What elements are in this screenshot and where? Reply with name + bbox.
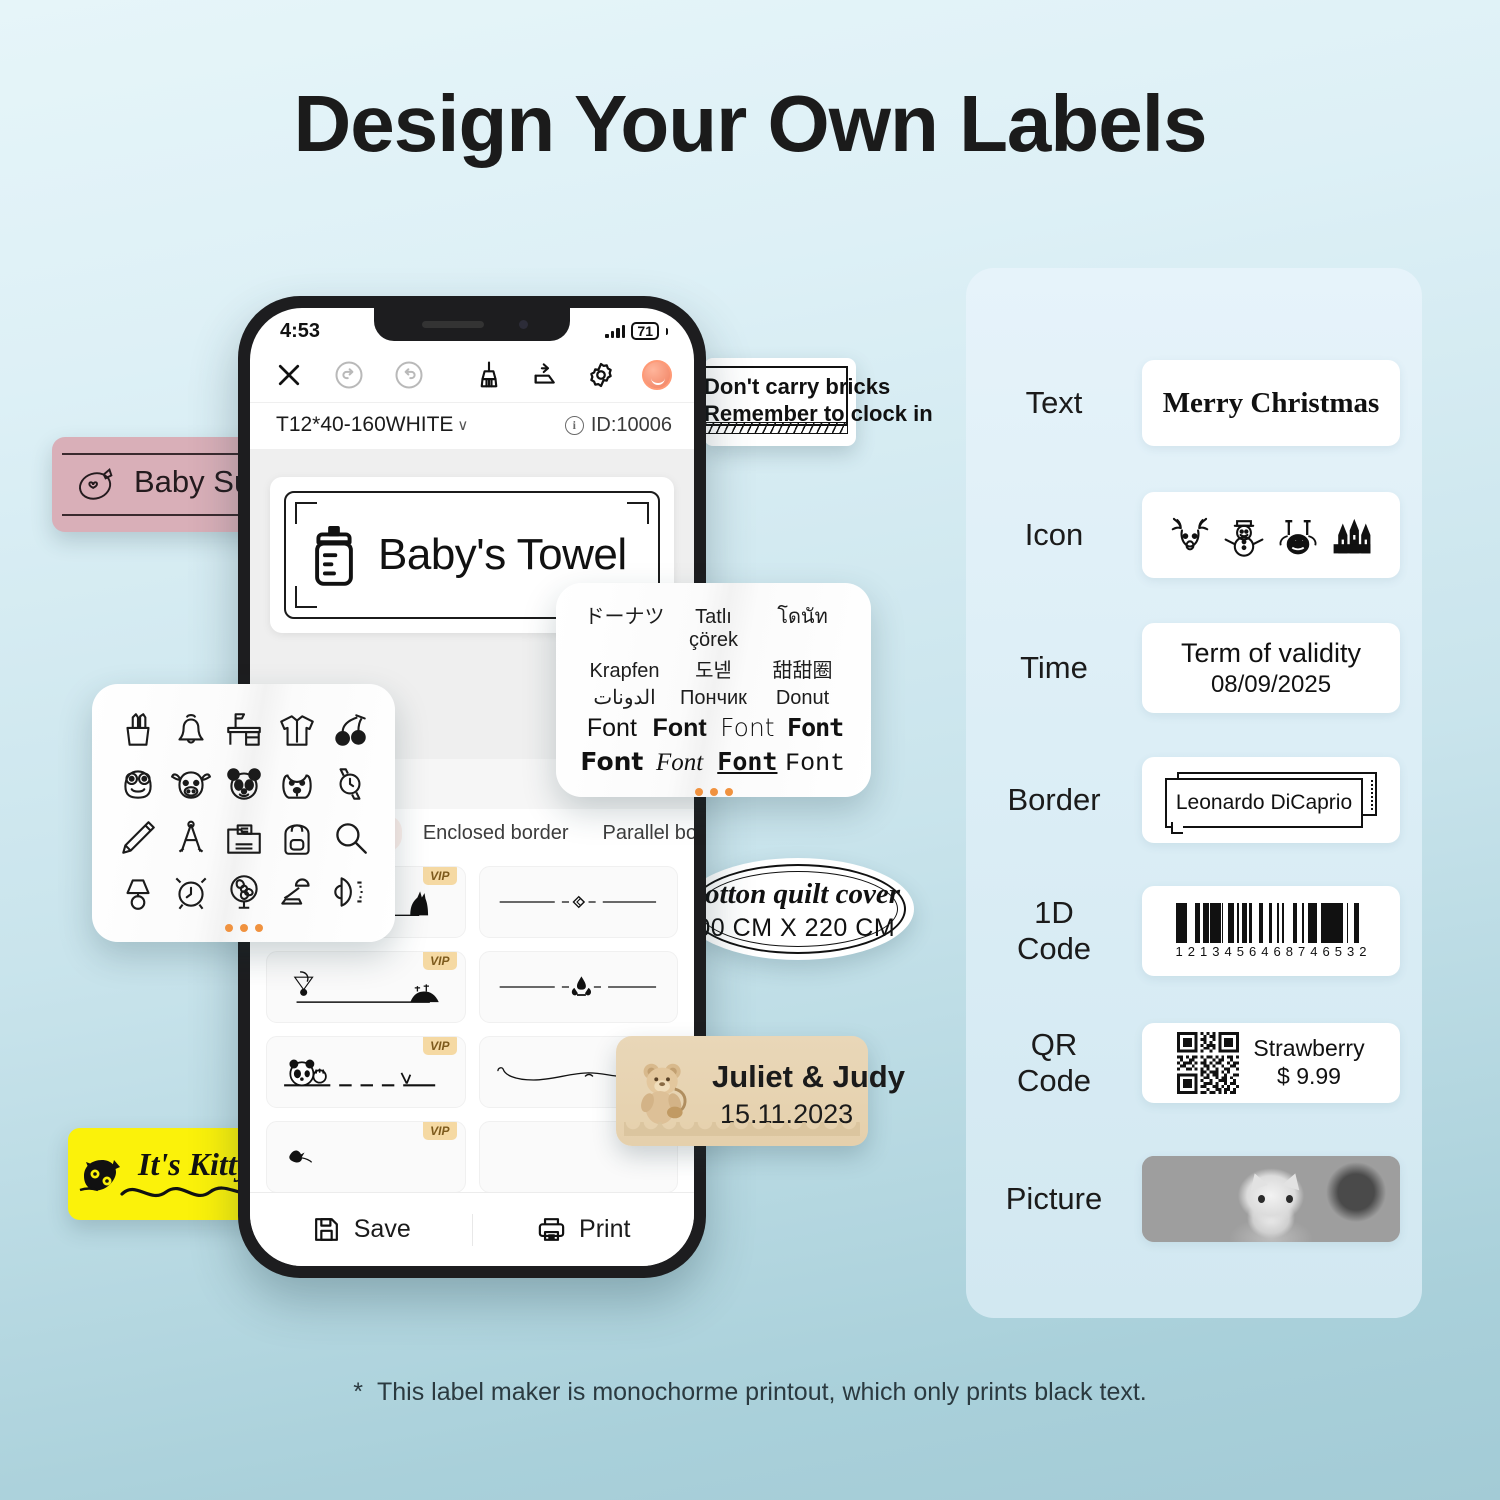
template-item[interactable] [479,951,679,1023]
sticker-hatch-bar [704,422,848,434]
font-sample[interactable]: Font [781,713,849,742]
qr-product-name: Strawberry [1253,1035,1364,1063]
template-name: T12*40-160WHITE [276,413,453,437]
feature-card-icon [1142,492,1400,578]
lang-en[interactable]: Donut [758,687,847,710]
panda-icon[interactable] [218,760,269,808]
reindeer-icon [1167,512,1213,558]
cat-ear-right [1282,1171,1304,1191]
crop-corner-tl-icon [295,502,317,524]
compass-icon[interactable] [165,814,216,862]
lang-de[interactable]: Krapfen [580,660,669,683]
crop-corner-bl-icon [295,586,317,608]
backpack-icon[interactable] [271,814,322,862]
feature-label-qr-code: QR Code [966,1027,1142,1099]
magnifier-icon[interactable] [324,814,375,862]
label-text[interactable]: Baby's Towel [378,530,627,580]
pagination-dots[interactable] [112,924,375,932]
save-icon [311,1214,342,1245]
crop-corner-tr-icon [627,502,649,524]
pagination-dots[interactable] [574,788,853,796]
feature-row-1d-code: 1D Code 1213456468746532 [966,886,1422,976]
template-select[interactable]: T12*40-160WHITE ∨ [276,413,468,437]
border-text: Leonardo DiCaprio [1176,791,1352,815]
sticker-juliet-name: Juliet & Judy [712,1059,905,1095]
feature-panel: Text Merry Christmas Icon [966,268,1422,1318]
cat-ear-left [1246,1171,1268,1191]
status-time: 4:53 [280,320,320,343]
feature-card-time: Term of validity 08/09/2025 [1142,623,1400,713]
validity-date: 08/09/2025 [1211,671,1331,699]
diamond-dash-line-icon [489,874,667,930]
sticker-clock-in: Don't carry bricks Remember to clock in [704,358,856,446]
template-id-text: ID:10006 [591,414,672,437]
template-selector-bar: T12*40-160WHITE ∨ i ID:10006 [250,403,694,449]
sticker-quilt-line1: Cotton quilt cover [682,878,900,911]
editor-toolbar [250,350,694,403]
battery-level: 71 [631,322,659,340]
folder-icon[interactable] [218,814,269,862]
language-row: Krapfen 도넫 甜甜圈 [574,653,853,684]
qr-caption: Strawberry $ 9.99 [1253,1035,1364,1090]
font-sample[interactable]: Font [714,747,782,776]
lang-ru[interactable]: Пончик [669,687,758,710]
print-label: Print [579,1215,630,1244]
font-sample-row: Font Font Font Font [574,745,853,780]
save-button[interactable]: Save [250,1214,472,1245]
frog-icon[interactable] [112,760,163,808]
lang-th[interactable]: โดนัท [758,600,847,632]
shirt-icon[interactable] [271,706,322,754]
snowman-icon [1221,512,1267,558]
feature-row-qr-code: QR Code [966,1023,1422,1103]
feature-row-border: Border Leonardo DiCaprio [966,757,1422,843]
fleur-dash-line-icon [489,959,667,1015]
chevron-down-icon: ∨ [457,416,468,434]
footnote-text: This label maker is monochorme printout,… [377,1378,1147,1406]
cow-icon[interactable] [165,760,216,808]
font-sample[interactable]: Font [578,747,646,776]
vip-badge: VIP [423,867,456,885]
battery-tip-icon [666,328,668,335]
footnote: *This label maker is monochorme printout… [0,1378,1500,1407]
status-indicators: 71 [605,322,668,340]
template-item[interactable]: VIP [266,951,466,1023]
cat-eye-right [1286,1195,1293,1203]
lang-tr[interactable]: Tatlı çörek [669,606,758,652]
template-id[interactable]: i ID:10006 [565,414,672,437]
icon-grid [112,706,375,916]
fan-icon[interactable] [218,868,269,916]
lamp-icon[interactable] [112,868,163,916]
sticker-quilt-line2: 200 CM X 220 CM [682,914,892,943]
feature-card-border: Leonardo DiCaprio [1142,757,1400,843]
feature-label-text: Text [966,385,1142,421]
pen-holder-icon[interactable] [112,706,163,754]
info-icon: i [565,416,584,435]
feature-card-picture [1142,1156,1400,1242]
baby-bottle-icon [308,524,360,586]
sticker-scallop-edge [624,1122,860,1136]
feature-label-border: Border [966,782,1142,818]
bottom-action-bar: Save Print [250,1192,694,1266]
avatar[interactable] [642,360,672,390]
tab-parallel-border[interactable]: Parallel border [590,815,695,852]
share-icon[interactable] [530,360,560,390]
vip-badge: VIP [423,952,456,970]
haunted-castle-icon [1329,512,1375,558]
font-sample[interactable]: Font [578,714,646,743]
feature-label-1d-code: 1D Code [966,895,1142,967]
font-sample[interactable]: Font [781,749,849,778]
language-row: ドーナツ Tatlı çörek โดนัท [574,599,853,653]
desk-lamp-icon[interactable] [271,868,322,916]
footnote-marker: * [353,1378,363,1406]
cherry-icon[interactable] [324,706,375,754]
lang-ko[interactable]: 도넫 [669,654,758,683]
save-label: Save [354,1215,411,1244]
kitten-photo [1142,1156,1400,1242]
redo-icon[interactable] [394,360,424,390]
qr-code-icon [1177,1032,1239,1094]
protractor-icon[interactable] [324,868,375,916]
broom-icon[interactable] [474,360,504,390]
font-sample[interactable]: Font [646,714,714,743]
lang-zh[interactable]: 甜甜圈 [758,654,847,683]
dog-icon[interactable] [271,760,322,808]
font-picker-popup[interactable]: ドーナツ Tatlı çörek โดนัท Krapfen 도넫 甜甜圈 ال… [556,583,871,797]
print-icon [536,1214,567,1245]
sticker-quilt-cover: Cotton quilt cover 200 CM X 220 CM [682,858,914,960]
validity-title: Term of validity [1181,638,1361,669]
font-sample[interactable]: Font [714,713,782,742]
page-title: Design Your Own Labels [0,78,1500,170]
sticker-bricks-frame: Don't carry bricks Remember to clock in [704,366,848,426]
desk-icon[interactable] [218,706,269,754]
feature-card-text: Merry Christmas [1142,360,1400,446]
signal-icon [605,324,625,338]
template-item[interactable]: VIP [266,1036,466,1108]
feature-card-1d-code: 1213456468746532 [1142,886,1400,976]
feature-label-icon: Icon [966,517,1142,553]
feature-card-qr-code: Strawberry $ 9.99 [1142,1023,1400,1103]
vip-badge: VIP [423,1122,456,1140]
cat-eye-left [1258,1195,1265,1203]
undo-icon[interactable] [334,360,364,390]
icon-picker-popup[interactable] [92,684,395,942]
gear-icon[interactable] [586,360,616,390]
sticker-juliet-judy: Juliet & Judy 15.11.2023 [616,1036,868,1146]
sticker-bricks-line1: Don't carry bricks [704,374,838,401]
baby-bottle-bib-icon [74,462,120,508]
font-sample[interactable]: Font [646,749,714,777]
front-camera [519,320,528,329]
pencil-icon[interactable] [112,814,163,862]
barcode-digits: 1213456468746532 [1173,944,1369,959]
font-sample-row: Font Font Font Font [574,711,853,745]
tab-enclosed-border[interactable]: Enclosed border [410,815,582,852]
print-button[interactable]: Print [473,1214,695,1245]
earpiece-speaker [422,321,484,328]
phone-notch [374,308,570,341]
template-item[interactable]: VIP [266,1121,466,1193]
feature-row-text: Text Merry Christmas [966,360,1422,446]
teddy-bear-icon [628,1052,706,1130]
lang-ar[interactable]: الدونات [580,685,669,710]
close-icon[interactable] [274,360,304,390]
pumpkin-icon [1275,512,1321,558]
merry-christmas-text: Merry Christmas [1163,387,1380,420]
watch-icon[interactable] [324,760,375,808]
vip-badge: VIP [423,1037,456,1055]
language-row: الدونات Пончик Donut [574,684,853,711]
feature-label-picture: Picture [966,1181,1142,1217]
lang-ja[interactable]: ドーナツ [580,600,669,629]
barcode-icon [1173,903,1369,943]
feature-row-picture: Picture [966,1156,1422,1242]
feature-label-time: Time [966,650,1142,686]
template-item[interactable] [479,866,679,938]
feature-row-icon: Icon [966,492,1422,578]
bell-icon[interactable] [165,706,216,754]
qr-product-price: $ 9.99 [1253,1063,1364,1091]
feature-row-time: Time Term of validity 08/09/2025 [966,623,1422,713]
alarm-clock-icon[interactable] [165,868,216,916]
